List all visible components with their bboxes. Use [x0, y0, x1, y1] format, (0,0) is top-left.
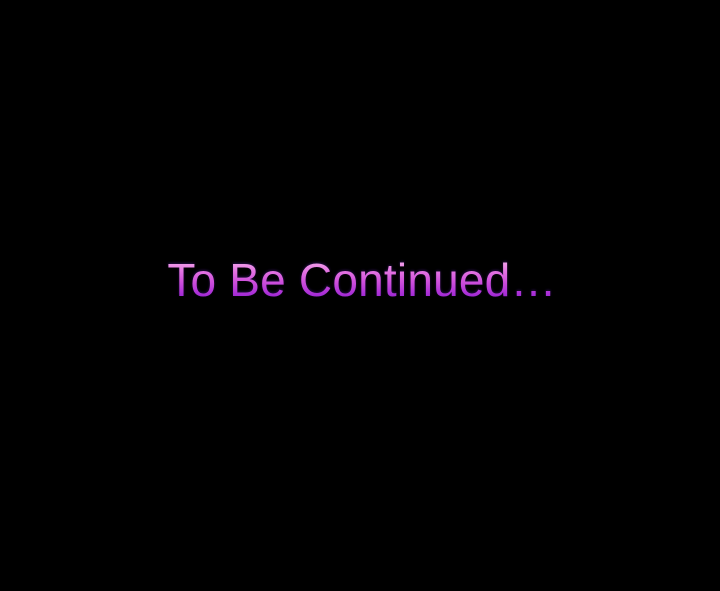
- screen: To Be Continued… To Be Continued… To Be …: [0, 0, 720, 591]
- title-card: To Be Continued… To Be Continued… To Be …: [0, 0, 720, 591]
- to-be-continued-text: To Be Continued…: [167, 257, 556, 303]
- title-text-wrapper: To Be Continued… To Be Continued… To Be …: [167, 257, 556, 303]
